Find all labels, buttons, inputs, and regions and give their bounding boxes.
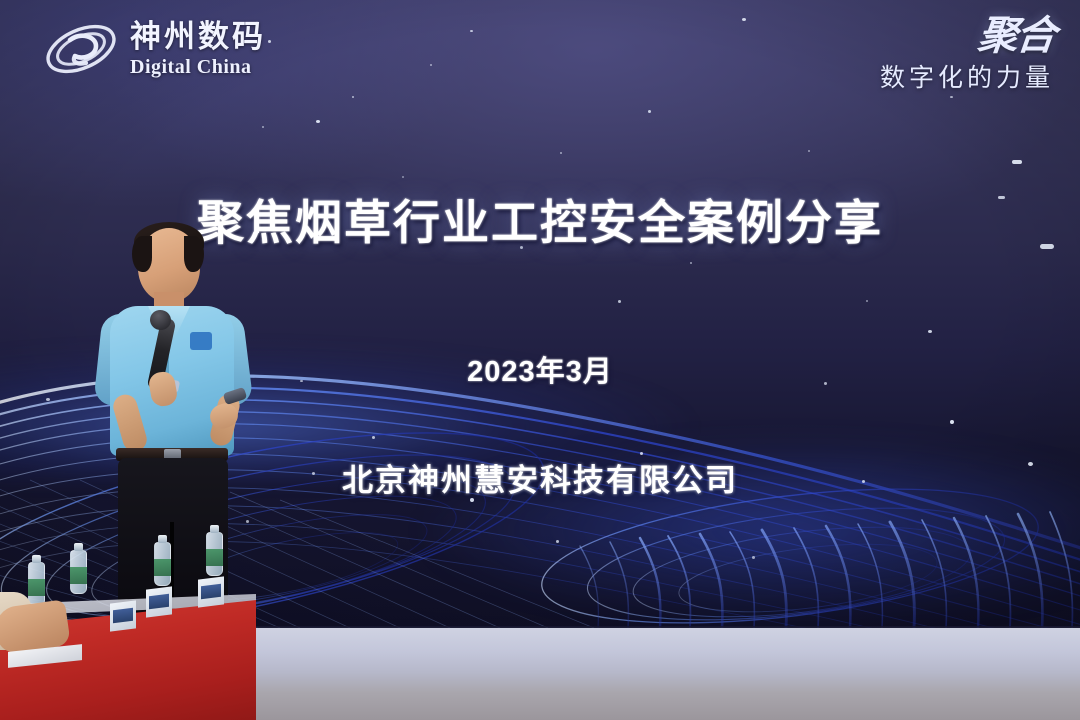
water-bottle bbox=[70, 550, 87, 594]
bottle-body bbox=[70, 550, 87, 594]
name-card bbox=[146, 586, 172, 617]
bottle-cap bbox=[158, 535, 167, 543]
brand-logo-digital-china: 神州数码 Digital China bbox=[42, 18, 266, 80]
water-bottle bbox=[206, 532, 223, 576]
presenter-hair-left bbox=[132, 236, 152, 272]
name-card bbox=[198, 576, 224, 607]
water-bottle bbox=[28, 562, 45, 606]
name-card bbox=[110, 600, 136, 631]
conference-stage-photo: 神州数码 Digital China 聚合 数字化的力量 聚焦烟草行业工控安全案… bbox=[0, 0, 1080, 720]
water-bottle bbox=[154, 542, 171, 586]
bottle-cap bbox=[74, 543, 83, 551]
event-logo-tagline: 数字化的力量 bbox=[880, 58, 1054, 94]
bottle-label bbox=[206, 549, 223, 566]
brand-name-cn: 神州数码 bbox=[130, 21, 266, 52]
bottle-cap bbox=[32, 555, 41, 563]
presenter-hair-right bbox=[184, 236, 204, 272]
bottle-label bbox=[70, 567, 87, 584]
bottle-body bbox=[154, 542, 171, 586]
bottle-label bbox=[28, 579, 45, 596]
event-logo-mark: 聚合 bbox=[878, 16, 1056, 56]
bottle-body bbox=[28, 562, 45, 606]
name-card-text-block bbox=[149, 594, 169, 609]
name-card-text-block bbox=[113, 608, 133, 623]
bottle-body bbox=[206, 532, 223, 576]
presenter-shirt-logo-icon bbox=[190, 332, 212, 350]
bottle-cap bbox=[210, 525, 219, 533]
bottle-label bbox=[154, 559, 171, 576]
swirl-galaxy-icon bbox=[42, 18, 120, 80]
event-logo-juhe: 聚合 数字化的力量 bbox=[880, 16, 1054, 94]
name-card-text-block bbox=[201, 584, 221, 599]
brand-logo-text: 神州数码 Digital China bbox=[130, 21, 266, 77]
brand-name-en: Digital China bbox=[130, 57, 266, 77]
